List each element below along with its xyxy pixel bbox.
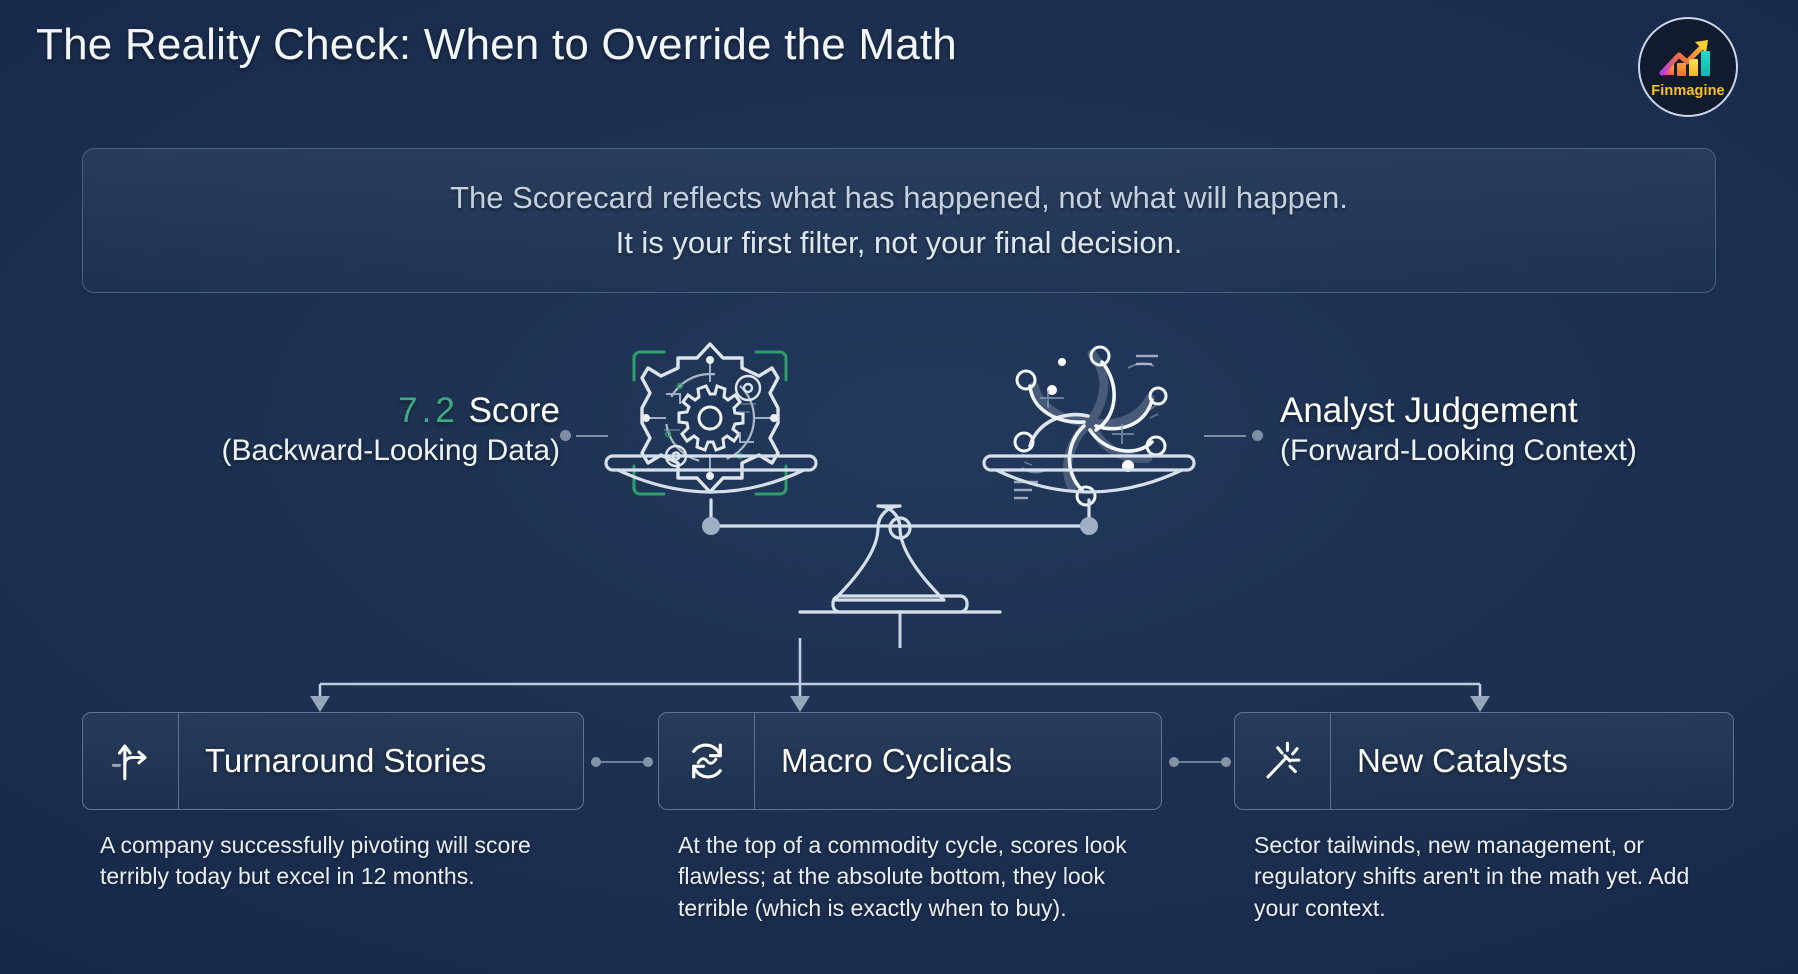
score-headline: 7.2 Score: [140, 390, 560, 431]
quote-banner: The Scorecard reflects what has happened…: [82, 148, 1716, 293]
card-title: Macro Cyclicals: [755, 713, 1161, 809]
card-macro-cyclicals[interactable]: Macro Cyclicals: [658, 712, 1162, 810]
arrow-down-left-icon: [310, 696, 330, 712]
arrow-down-right-icon: [1470, 696, 1490, 712]
left-scale-subtitle: (Backward-Looking Data): [140, 433, 560, 469]
cycle-refresh-icon: [659, 713, 755, 809]
page-header: The Reality Check: When to Override the …: [0, 0, 1798, 130]
right-scale-label: Analyst Judgement (Forward-Looking Conte…: [1280, 390, 1740, 469]
card-description: At the top of a commodity cycle, scores …: [678, 830, 1178, 924]
banner-line-2: It is your first filter, not your final …: [616, 222, 1183, 264]
override-cards: Turnaround Stories A company successfull…: [0, 712, 1798, 962]
card-turnaround-stories[interactable]: Turnaround Stories: [82, 712, 584, 810]
brand-logo: Finmagine: [1638, 17, 1738, 117]
card-new-catalysts[interactable]: New Catalysts: [1234, 712, 1734, 810]
page-title: The Reality Check: When to Override the …: [36, 20, 957, 70]
card-title: Turnaround Stories: [179, 713, 583, 809]
right-connector-line: [1204, 435, 1246, 437]
score-value: 7.2: [398, 391, 459, 430]
card-link-line: [1179, 761, 1221, 763]
card-link-dot: [1221, 757, 1231, 767]
card-title: New Catalysts: [1331, 713, 1733, 809]
card-link-line: [601, 761, 643, 763]
banner-line-1: The Scorecard reflects what has happened…: [450, 177, 1348, 219]
card-description: Sector tailwinds, new management, or reg…: [1254, 830, 1724, 924]
score-label: Score: [469, 391, 560, 430]
tree-connector: [300, 638, 1500, 718]
right-scale-subtitle: (Forward-Looking Context): [1280, 433, 1740, 469]
magic-wand-icon: [1235, 713, 1331, 809]
bar-chart-arrow-icon: [1657, 37, 1719, 81]
balance-scale-icon: [590, 328, 1210, 648]
right-connector-dot: [1252, 430, 1263, 441]
card-link-dot: [591, 757, 601, 767]
card-link-dot: [643, 757, 653, 767]
left-connector-dot: [560, 430, 571, 441]
logo-text: Finmagine: [1651, 84, 1724, 99]
judgement-headline: Analyst Judgement: [1280, 390, 1740, 431]
left-scale-label: 7.2 Score (Backward-Looking Data): [140, 390, 560, 469]
card-description: A company successfully pivoting will sco…: [100, 830, 540, 893]
branching-arrow-icon: [83, 713, 179, 809]
arrow-down-center-icon: [790, 696, 810, 712]
card-link-dot: [1169, 757, 1179, 767]
